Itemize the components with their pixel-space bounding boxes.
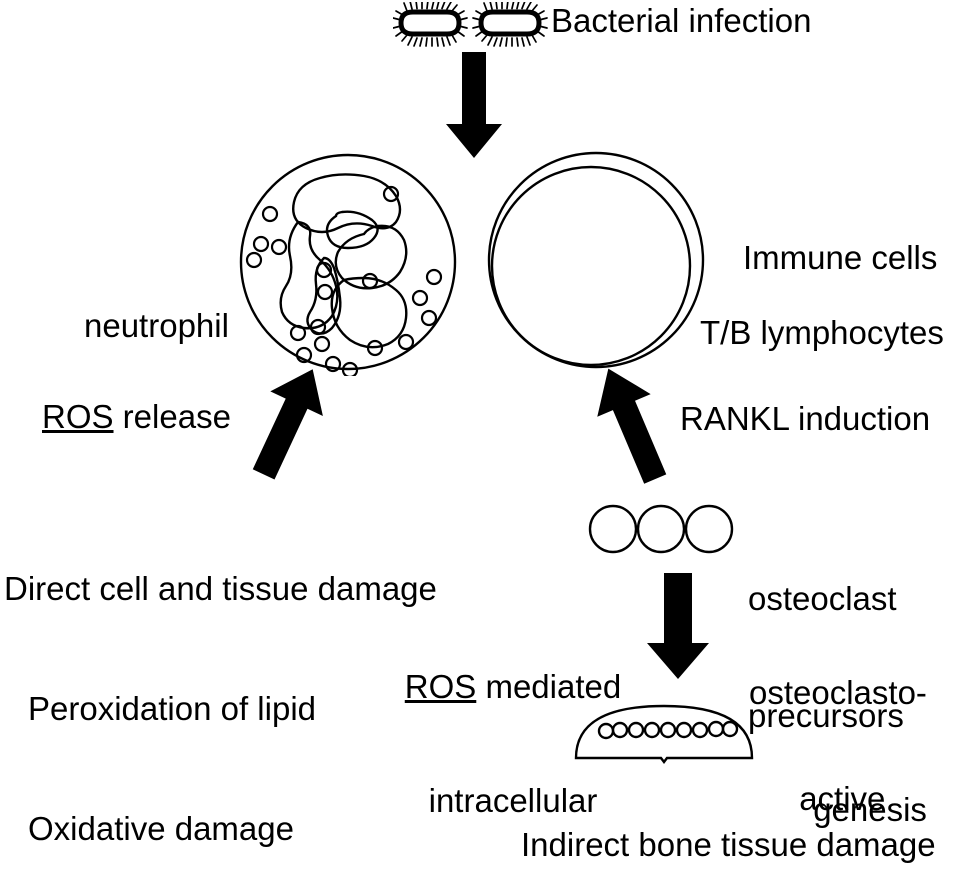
release-text: release	[114, 398, 231, 435]
direct-damage-line: Peroxidation of lipid	[4, 689, 437, 729]
bacteria-rods-icon	[393, 2, 553, 48]
tb-lymphocytes-label: T/B lymphocytes	[700, 316, 944, 349]
direct-damage-list: Direct cell and tissue damage Peroxidati…	[4, 489, 437, 874]
lymphocyte-cell-icon	[484, 150, 708, 376]
indirect-damage-label: Indirect bone tissue damage	[521, 828, 936, 861]
ros-underlined-right: ROS	[405, 668, 477, 705]
neutrophil-cell-icon	[238, 150, 462, 376]
bacterial-infection-label: Bacterial infection	[551, 4, 811, 37]
arrow-down-thick-top	[424, 52, 524, 158]
neutrophil-label: neutrophil	[84, 309, 229, 342]
immune-cells-label: Immune cells	[743, 241, 937, 274]
ros-release-label: ROS release	[42, 400, 231, 433]
direct-damage-line: Oxidative damage	[4, 809, 437, 849]
diagram-canvas: Bacterial infection	[0, 0, 957, 874]
direct-damage-line: Direct cell and tissue damage	[4, 569, 437, 609]
osteoclast-precursor-circles-icon	[588, 503, 734, 555]
active-osteoclast-line1: active	[768, 779, 917, 818]
arrow-down-right-thick	[572, 358, 690, 486]
ros-signaling-line2: intracellular	[393, 782, 633, 820]
arrow-down-thick-osteoclastogenesis	[633, 573, 723, 679]
ros-underlined-left: ROS	[42, 398, 114, 435]
arrow-down-left-thick	[232, 358, 346, 482]
rankl-induction-label: RANKL induction	[680, 402, 930, 435]
active-osteoclast-icon	[572, 698, 756, 766]
